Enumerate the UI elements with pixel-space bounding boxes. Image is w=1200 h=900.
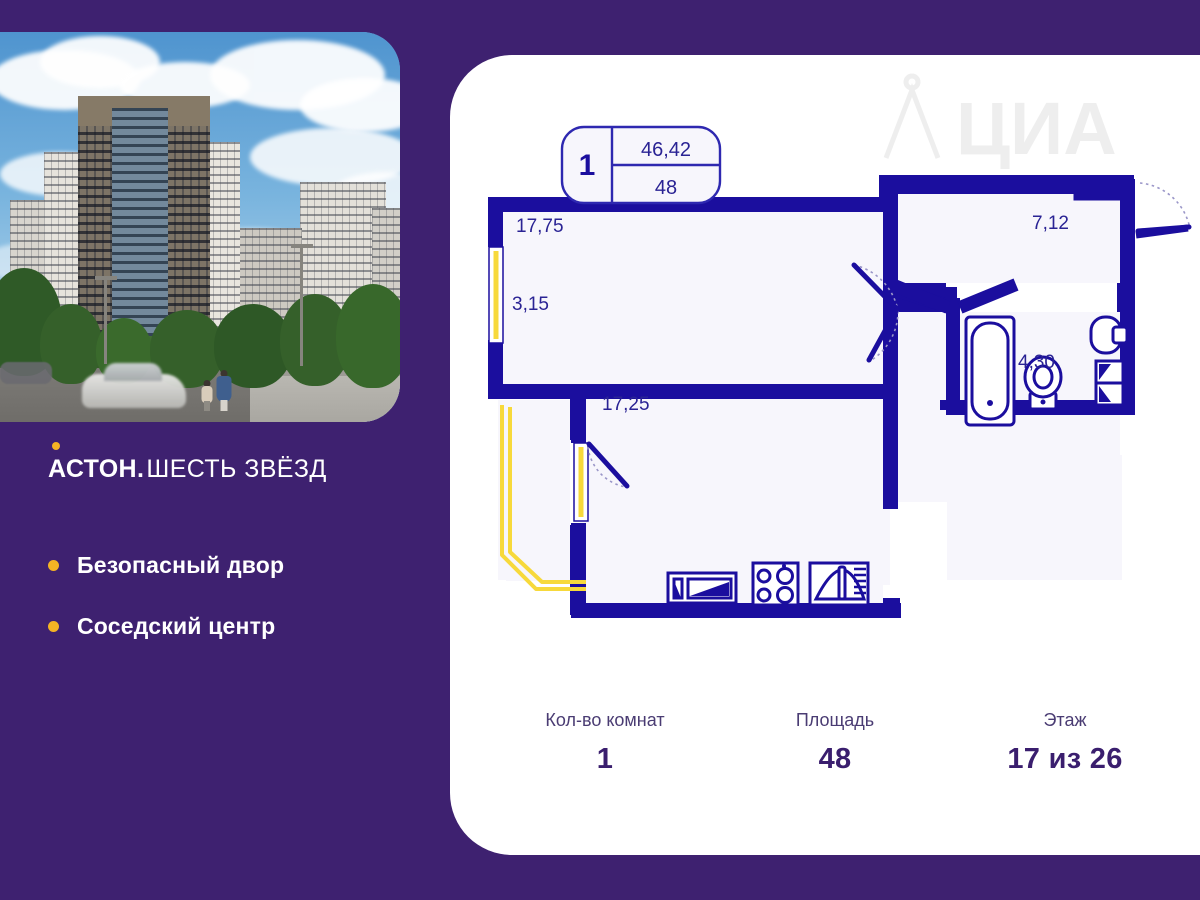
stat-rooms: Кол-во комнат 1 [490,710,720,776]
summary-badge: 1 46,42 48 [562,127,720,203]
svg-text:48: 48 [655,177,677,199]
svg-text:7,12: 7,12 [1032,213,1069,234]
pedestrian-child [200,380,214,410]
parked-car [0,362,52,384]
stat-value: 48 [720,743,950,776]
brand-dot-icon [52,442,60,450]
street-lamp [300,244,303,366]
bullet-dot-icon [48,560,59,571]
svg-text:1: 1 [579,149,596,182]
cian-watermark: ЦИАН [868,70,1118,175]
street-lamp [104,276,107,364]
tree [336,284,400,388]
brand-subtitle: ШЕСТЬ ЗВЁЗД [146,455,326,484]
brand-name: АСТОН. [48,455,144,484]
svg-text:ЦИАН: ЦИАН [956,87,1118,170]
svg-text:4,30: 4,30 [1018,352,1055,373]
stat-value: 1 [490,743,720,776]
feature-list: Безопасный двор Соседский центр [48,552,408,674]
stat-label: Площадь [720,710,950,731]
svg-text:17,75: 17,75 [516,216,564,237]
project-photo [0,32,400,422]
svg-text:3,15: 3,15 [512,294,549,315]
stat-label: Этаж [950,710,1180,731]
bullet-dot-icon [48,621,59,632]
stat-floor: Этаж 17 из 26 [950,710,1180,776]
feature-item: Безопасный двор [48,552,408,579]
stat-area: Площадь 48 [720,710,950,776]
stat-label: Кол-во комнат [490,710,720,731]
floorplan-card: 1 46,42 48 17,75 3,15 17,25 7,12 4,30 [450,55,1200,855]
svg-text:46,42: 46,42 [641,139,691,161]
pedestrian-adult [216,370,232,410]
moving-car [82,374,186,408]
stat-value: 17 из 26 [950,743,1180,776]
brand-name-text: АСТОН [48,455,137,483]
feature-label: Соседский центр [77,613,275,640]
brand-separator: . [137,455,144,483]
feature-item: Соседский центр [48,613,408,640]
stats-row: Кол-во комнат 1 Площадь 48 Этаж 17 из 26 [490,710,1180,776]
promo-card-screenshot: АСТОН. ШЕСТЬ ЗВЁЗД Безопасный двор Сосед… [0,0,1200,900]
svg-text:17,25: 17,25 [602,394,650,415]
brand-lockup: АСТОН. ШЕСТЬ ЗВЁЗД [48,455,327,484]
feature-label: Безопасный двор [77,552,284,579]
